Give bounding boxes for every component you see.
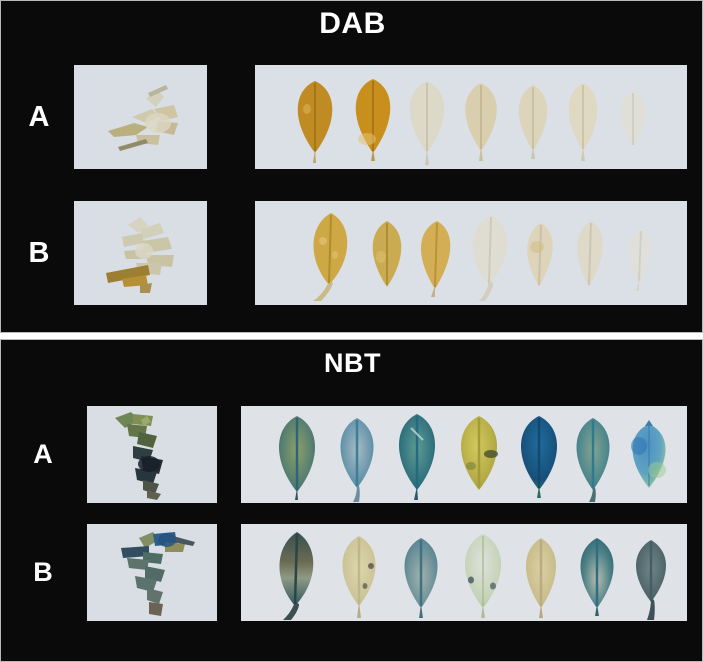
row-dab-b: B [1,197,703,309]
panel-nbt: NBT A [0,339,703,662]
panel-title-nbt: NBT [1,348,703,379]
row-nbt-a: A [1,402,703,514]
panel-title-dab: DAB [1,7,703,41]
leaf-strip-nbt-a [241,406,687,503]
row-nbt-b: B [1,520,703,632]
row-label-dab-a: A [17,61,61,173]
whole-plant-photo-dab-a [74,65,207,169]
row-dab-a: A [1,61,703,173]
leaf-strip-dab-b [255,201,687,305]
leaf-strip-nbt-b [241,524,687,621]
staining-figure: DAB A [0,0,703,662]
whole-plant-photo-nbt-b [87,524,217,621]
whole-plant-photo-nbt-a [87,406,217,503]
leaf-strip-dab-a [255,65,687,169]
whole-plant-photo-dab-b [74,201,207,305]
row-label-nbt-a: A [21,402,65,506]
panel-dab: DAB A [0,0,703,333]
row-label-dab-b: B [17,197,61,309]
row-label-nbt-b: B [21,520,65,624]
